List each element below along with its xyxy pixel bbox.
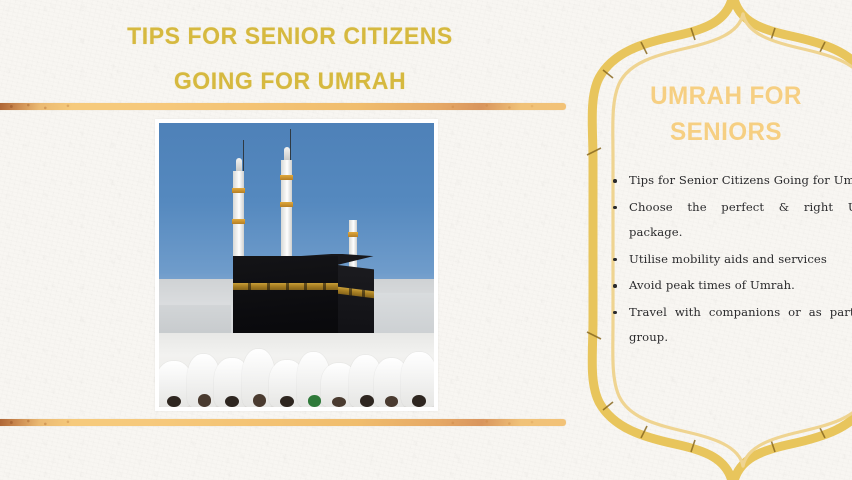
minaret-band: [280, 202, 293, 207]
pilgrim-head: [385, 396, 399, 407]
kiswah-gold-band-front: [233, 283, 338, 290]
pilgrim-head: [308, 395, 322, 407]
pilgrim-head: [198, 394, 212, 407]
pilgrim-head: [280, 396, 294, 407]
umrah-for-seniors-panel: UMRAH FOR SENIORS Tips for Senior Citize…: [583, 0, 852, 480]
minaret-cap-right: [284, 147, 290, 160]
minaret-band: [280, 175, 293, 180]
minaret-band: [232, 219, 245, 224]
pilgrim-head: [225, 396, 239, 407]
pilgrim-head: [332, 397, 346, 407]
title-line-1: TIPS FOR SENIOR CITIZENS: [17, 14, 562, 59]
pilgrim-head: [412, 395, 426, 407]
list-item: Choose the perfect & right Umrah package…: [611, 195, 852, 246]
slide-canvas: TIPS FOR SENIOR CITIZENS GOING FOR UMRAH: [0, 0, 852, 480]
kaaba-photo-frame: [155, 119, 438, 411]
list-item: Utilise mobility aids and services: [611, 247, 852, 273]
minaret-band: [348, 232, 358, 237]
list-item: Travel with companions or as part of a g…: [611, 300, 852, 351]
tips-bullet-list: Tips for Senior Citizens Going for Umrah…: [611, 168, 852, 352]
pilgrim-crowd: [159, 333, 434, 407]
pilgrim-head: [360, 395, 374, 407]
panel-heading-line-1: UMRAH FOR: [599, 78, 852, 114]
panel-heading: UMRAH FOR SENIORS: [599, 78, 852, 150]
gold-divider-bottom: [0, 419, 566, 426]
list-item: Avoid peak times of Umrah.: [611, 273, 852, 299]
pilgrim-head: [253, 394, 267, 407]
minaret-band: [232, 188, 245, 193]
title-line-2: GOING FOR UMRAH: [17, 59, 562, 104]
gold-divider-top: [0, 103, 566, 110]
pilgrim-head: [167, 396, 181, 407]
panel-heading-line-2: SENIORS: [599, 114, 852, 150]
slide-title: TIPS FOR SENIOR CITIZENS GOING FOR UMRAH: [0, 14, 580, 104]
list-item: Tips for Senior Citizens Going for Umrah: [611, 168, 852, 194]
minaret-cap-left: [236, 158, 242, 171]
kaaba-photo: [159, 123, 434, 407]
